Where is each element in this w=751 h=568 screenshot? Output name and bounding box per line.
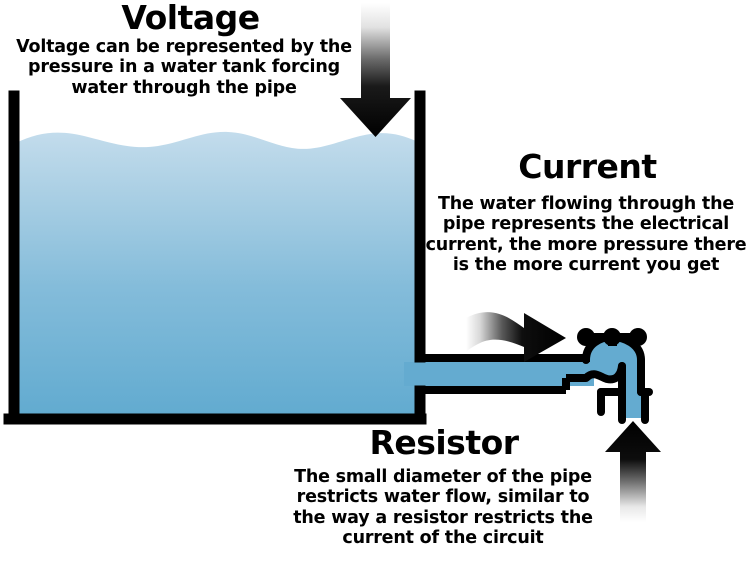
resistor-arrow-up-icon — [605, 421, 661, 522]
valve-knob-center — [603, 328, 621, 346]
current-heading: Current — [430, 150, 745, 183]
resistor-heading: Resistor — [288, 426, 600, 459]
current-description: The water flowing through the pipe repre… — [425, 194, 747, 275]
water-fill — [16, 132, 416, 414]
voltage-heading: Voltage — [18, 1, 363, 34]
three-knob-handle — [577, 328, 647, 346]
valve-knob-right — [629, 328, 647, 346]
diagram-canvas: Voltage Voltage can be represented by th… — [0, 0, 751, 568]
water-body — [16, 132, 416, 414]
voltage-description: Voltage can be represented by the pressu… — [8, 37, 360, 98]
valve-knob-left — [577, 328, 595, 346]
resistor-description: The small diameter of the pipe restricts… — [278, 467, 608, 548]
arrow-up-shape — [605, 421, 661, 522]
